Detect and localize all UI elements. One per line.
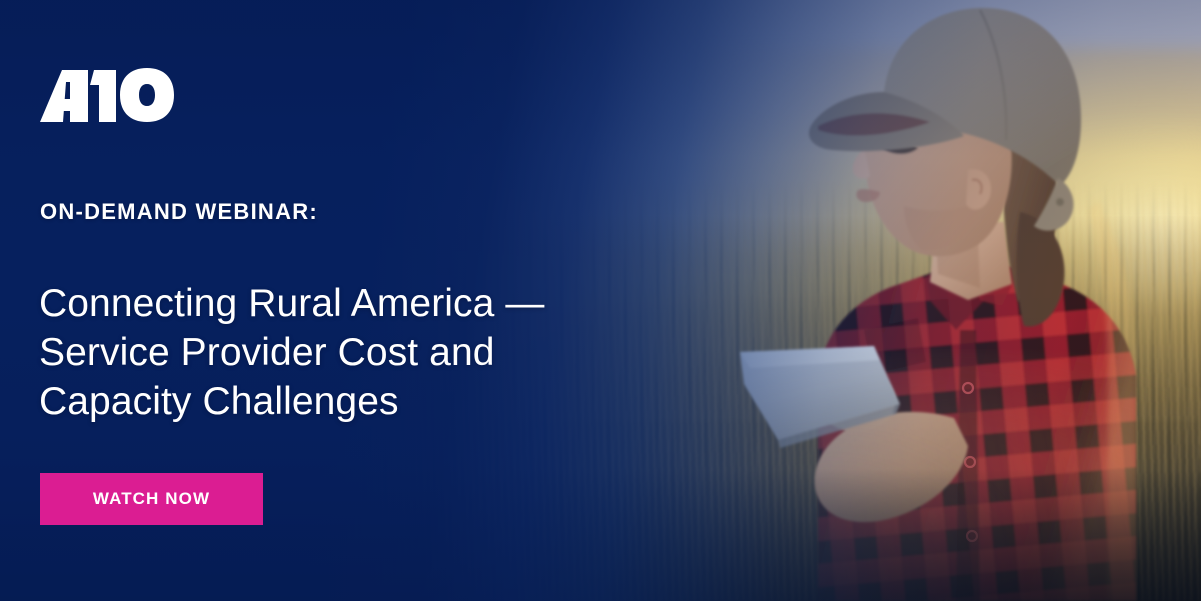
- eyebrow-label: ON-DEMAND WEBINAR:: [40, 201, 318, 223]
- a10-logo[interactable]: [40, 68, 174, 122]
- logo-numeral-1: [90, 70, 116, 122]
- logo-letter-a: [40, 70, 88, 122]
- watch-now-button[interactable]: WATCH NOW: [40, 473, 263, 525]
- banner-content: ON-DEMAND WEBINAR: Connecting Rural Amer…: [0, 0, 1201, 601]
- headline-line-1: Connecting Rural America —: [39, 279, 659, 328]
- logo-numeral-0: [120, 68, 174, 122]
- webinar-promo-banner: ON-DEMAND WEBINAR: Connecting Rural Amer…: [0, 0, 1201, 601]
- headline-line-2: Service Provider Cost and: [39, 328, 659, 377]
- page-title: Connecting Rural America — Service Provi…: [39, 279, 659, 426]
- headline-line-3: Capacity Challenges: [39, 377, 659, 426]
